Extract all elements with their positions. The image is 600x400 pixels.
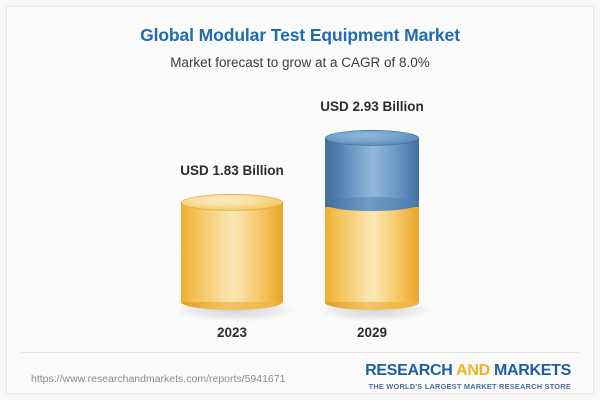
report-url[interactable]: https://www.researchandmarkets.com/repor… — [31, 373, 285, 385]
bar-segment-base-2029 — [325, 204, 419, 310]
bar-top-cap-2023 — [181, 194, 283, 211]
bar-side-base-2029 — [325, 204, 419, 302]
logo-text-and: AND — [456, 362, 490, 379]
bar-value-label-2029: USD 2.93 Billion — [272, 99, 472, 114]
bar-segment-junction-2029 — [325, 197, 419, 211]
logo-tagline: THE WORLD'S LARGEST MARKET RESEARCH STOR… — [365, 382, 571, 391]
bar-value-label-2023: USD 1.83 Billion — [132, 163, 332, 178]
logo-text-research: RESEARCH — [365, 362, 456, 379]
logo-wordmark: RESEARCH AND MARKETS — [365, 363, 571, 380]
bar-side-2023 — [181, 202, 283, 302]
bar-chart: USD 1.83 Billion 2023 USD 2.93 Billion — [7, 7, 593, 393]
logo-text-markets: MARKETS — [490, 362, 571, 379]
card-surface: Global Modular Test Equipment Market Mar… — [6, 6, 594, 394]
bar-segment-growth-2029 — [325, 130, 419, 212]
bar-category-label-2029: 2029 — [272, 325, 472, 340]
footer-divider — [21, 352, 579, 353]
bar-top-cap-2029 — [325, 130, 419, 146]
brand-logo[interactable]: RESEARCH AND MARKETS THE WORLD'S LARGEST… — [365, 363, 571, 391]
infographic-card: Global Modular Test Equipment Market Mar… — [0, 0, 600, 400]
bar-cylinder-2023 — [181, 194, 283, 310]
